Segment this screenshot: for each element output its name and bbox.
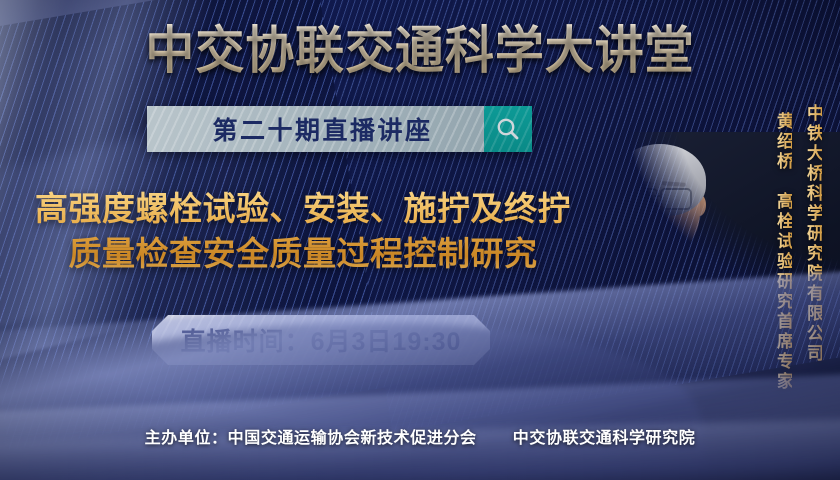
episode-bar: 第二十期直播讲座 (147, 106, 532, 152)
episode-label: 第二十期直播讲座 (147, 106, 484, 152)
page-title: 中交协联交通科学大讲堂 (17, 22, 823, 80)
lecture-title-line1: 高强度螺栓试验、安装、施拧及终拧 (35, 190, 571, 227)
search-button[interactable] (484, 106, 532, 152)
live-stream-poster: 中铁大桥科学研究院有限公司 黄绍桥 高栓试验研究首席专家 中交协联交通科学大讲堂… (0, 0, 840, 480)
organizer-footer: 主办单位：中国交通运输协会新技术促进分会 中交协联交通科学研究院 (0, 424, 840, 448)
lecture-title-line2: 质量检查安全质量过程控制研究 (8, 231, 598, 276)
search-icon (495, 116, 521, 142)
organizer-secondary: 中交协联交通科学研究院 (513, 430, 696, 447)
lecture-title: 高强度螺栓试验、安装、施拧及终拧 质量检查安全质量过程控制研究 (8, 186, 598, 276)
organizer-primary: 主办单位：中国交通运输协会新技术促进分会 (145, 430, 477, 447)
